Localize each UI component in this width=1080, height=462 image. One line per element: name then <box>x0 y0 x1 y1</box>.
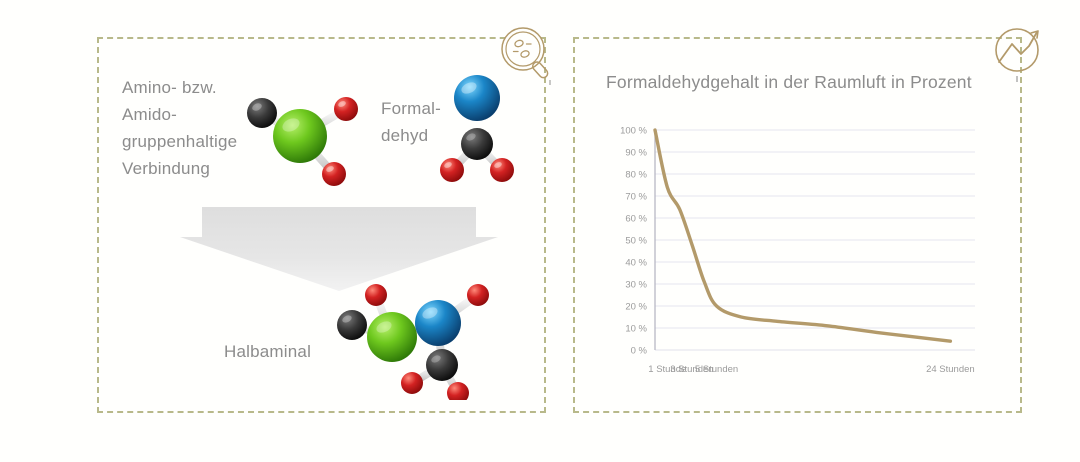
chart-trend-circle-icon <box>990 22 1052 84</box>
y-axis-tick-label: 80 % <box>625 170 647 181</box>
line-chart: 100 %90 %80 %70 %60 %50 %40 %30 %20 %10 … <box>600 118 1000 378</box>
chart-title: Formaldehydgehalt in der Raumluft in Pro… <box>606 72 972 93</box>
y-axis-tick-label: 0 % <box>631 346 648 357</box>
y-axis-tick-label: 70 % <box>625 192 647 203</box>
y-axis-tick-label: 20 % <box>625 302 647 313</box>
chart-x-axis-labels: 1 Stunde3 Stunden5 Stunden24 Stunden <box>648 364 974 375</box>
y-axis-tick-label: 50 % <box>625 236 647 247</box>
chart-y-axis-labels: 100 %90 %80 %70 %60 %50 %40 %30 %20 %10 … <box>620 126 647 357</box>
slide-canvas: Amino- bzw. Amido- gruppenhaltige Verbin… <box>0 0 1080 462</box>
y-axis-tick-label: 30 % <box>625 280 647 291</box>
chart-gridlines <box>655 130 975 350</box>
down-arrow <box>180 205 498 293</box>
y-axis-tick-label: 60 % <box>625 214 647 225</box>
y-axis-tick-label: 40 % <box>625 258 647 269</box>
halbaminal-molecule <box>330 275 502 400</box>
x-axis-tick-label: 24 Stunden <box>926 364 975 375</box>
y-axis-tick-label: 90 % <box>625 148 647 159</box>
chart-series-line <box>655 130 950 341</box>
y-axis-tick-label: 100 % <box>620 126 647 137</box>
chart-svg: 100 %90 %80 %70 %60 %50 %40 %30 %20 %10 … <box>600 118 1000 378</box>
x-axis-tick-label: 5 Stunden <box>695 364 738 375</box>
y-axis-tick-label: 10 % <box>625 324 647 335</box>
amino-compound-molecule <box>236 86 364 194</box>
formaldehyde-molecule <box>436 72 518 187</box>
